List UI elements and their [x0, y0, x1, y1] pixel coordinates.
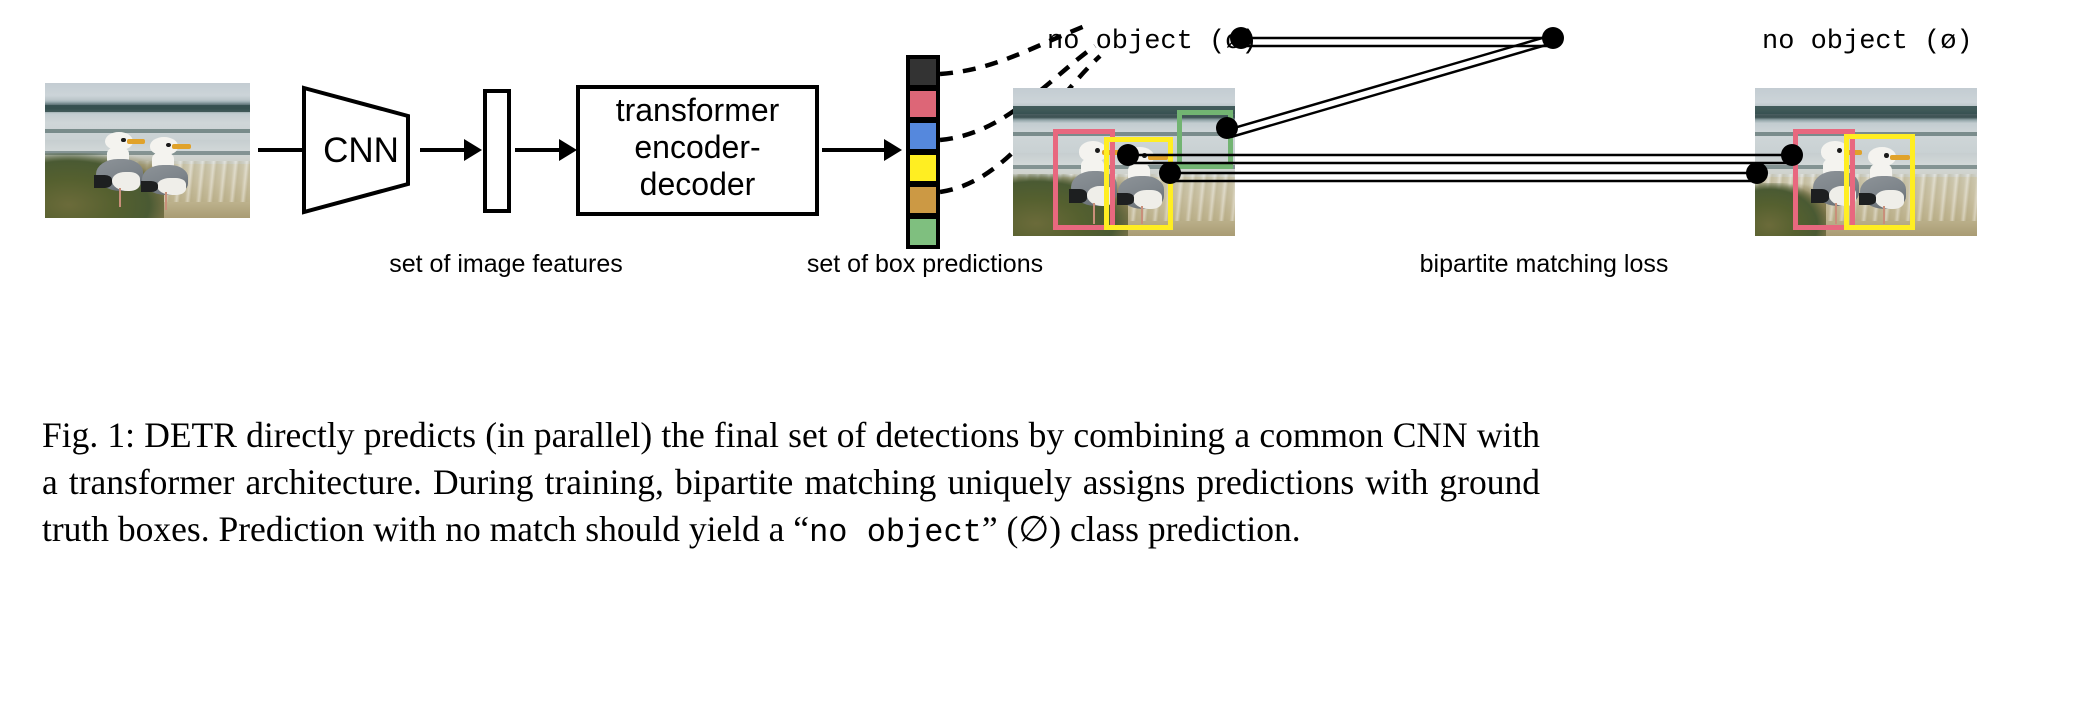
transformer-label-line1: transformer: [576, 92, 819, 129]
bipartite-matching-links: [1000, 10, 2078, 250]
caption-part2: ” (∅) class prediction.: [982, 509, 1301, 549]
gull-right: [141, 137, 194, 210]
arrow-transformer-to-predictions-line: [822, 148, 888, 152]
transformer-label-line2: encoder-: [576, 129, 819, 166]
transformer-label: transformer encoder- decoder: [576, 92, 819, 203]
arrow-transformer-to-predictions-head: [884, 139, 902, 161]
caption-mono-no-object: no object: [809, 514, 982, 551]
match-node-gt-yellow: [1746, 162, 1768, 184]
match-node-no-object-gt: [1542, 27, 1564, 49]
arrow-cnn-to-features-head: [464, 139, 482, 161]
gull-eye: [166, 143, 171, 147]
gull-belly: [157, 178, 186, 195]
arrow-features-to-transformer-line: [515, 148, 563, 152]
transformer-label-line3: decoder: [576, 166, 819, 203]
arrow-features-to-transformer-head: [559, 139, 577, 161]
features-caption: set of image features: [378, 250, 634, 279]
photo-sea-stripe-2: [45, 129, 250, 133]
arrow-cnn-to-features-line: [420, 148, 468, 152]
figure-caption: Fig. 1: DETR directly predicts (in paral…: [42, 412, 1540, 556]
caption-prefix: Fig. 1:: [42, 415, 135, 455]
matching-caption: bipartite matching loss: [1368, 250, 1720, 279]
gull-tail: [141, 181, 158, 192]
gull-leg: [119, 188, 121, 208]
gull-tail: [94, 175, 112, 187]
match-node-gt-pink: [1781, 144, 1803, 166]
input-photo: [45, 83, 250, 218]
gull-left: [94, 132, 147, 208]
photo-sea-stripe: [45, 105, 250, 112]
match-node-green-unmatched: [1216, 117, 1238, 139]
gull-belly: [112, 172, 140, 190]
caption-part1: DETR directly predicts (in parallel) the…: [42, 415, 1540, 549]
detr-architecture-figure: CNN transformer encoder- decoder no obje…: [0, 0, 2078, 390]
match-node-pred-yellow: [1159, 162, 1181, 184]
gull-leg: [165, 192, 167, 209]
match-node-pred-pink: [1117, 144, 1139, 166]
match-node-no-object-pred: [1230, 27, 1252, 49]
gull-eye: [121, 138, 126, 143]
cnn-label: CNN: [306, 131, 416, 172]
predictions-caption: set of box predictions: [797, 250, 1053, 279]
image-features-bar: [483, 89, 511, 213]
gull-beak: [172, 144, 191, 149]
